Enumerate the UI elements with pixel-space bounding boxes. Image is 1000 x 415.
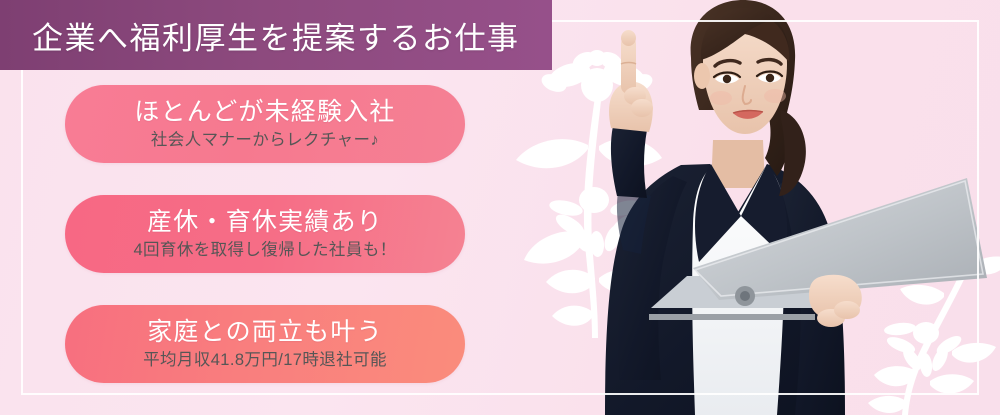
benefit-pill: 家庭との両立も叶う 平均月収41.8万円/17時退社可能	[65, 305, 465, 383]
headline-bar: 企業へ福利厚生を提案するお仕事	[0, 0, 552, 70]
benefit-headline: 家庭との両立も叶う	[147, 319, 383, 345]
benefit-pill: ほとんどが未経験入社 社会人マナーからレクチャー♪	[65, 85, 465, 163]
benefit-headline: 産休・育休実績あり	[147, 209, 383, 235]
benefit-headline: ほとんどが未経験入社	[134, 99, 395, 125]
benefit-pill: 産休・育休実績あり 4回育休を取得し復帰した社員も！	[65, 195, 465, 273]
job-ad-banner: 企業へ福利厚生を提案するお仕事 ほとんどが未経験入社 社会人マナーからレクチャー…	[0, 0, 1000, 415]
page-title: 企業へ福利厚生を提案するお仕事	[32, 13, 520, 58]
businesswoman-photo	[595, 0, 1000, 415]
benefit-subtext: 4回育休を取得し復帰した社員も！	[133, 241, 396, 259]
benefit-subtext: 平均月収41.8万円/17時退社可能	[143, 351, 387, 369]
benefit-subtext: 社会人マナーからレクチャー♪	[151, 131, 379, 149]
